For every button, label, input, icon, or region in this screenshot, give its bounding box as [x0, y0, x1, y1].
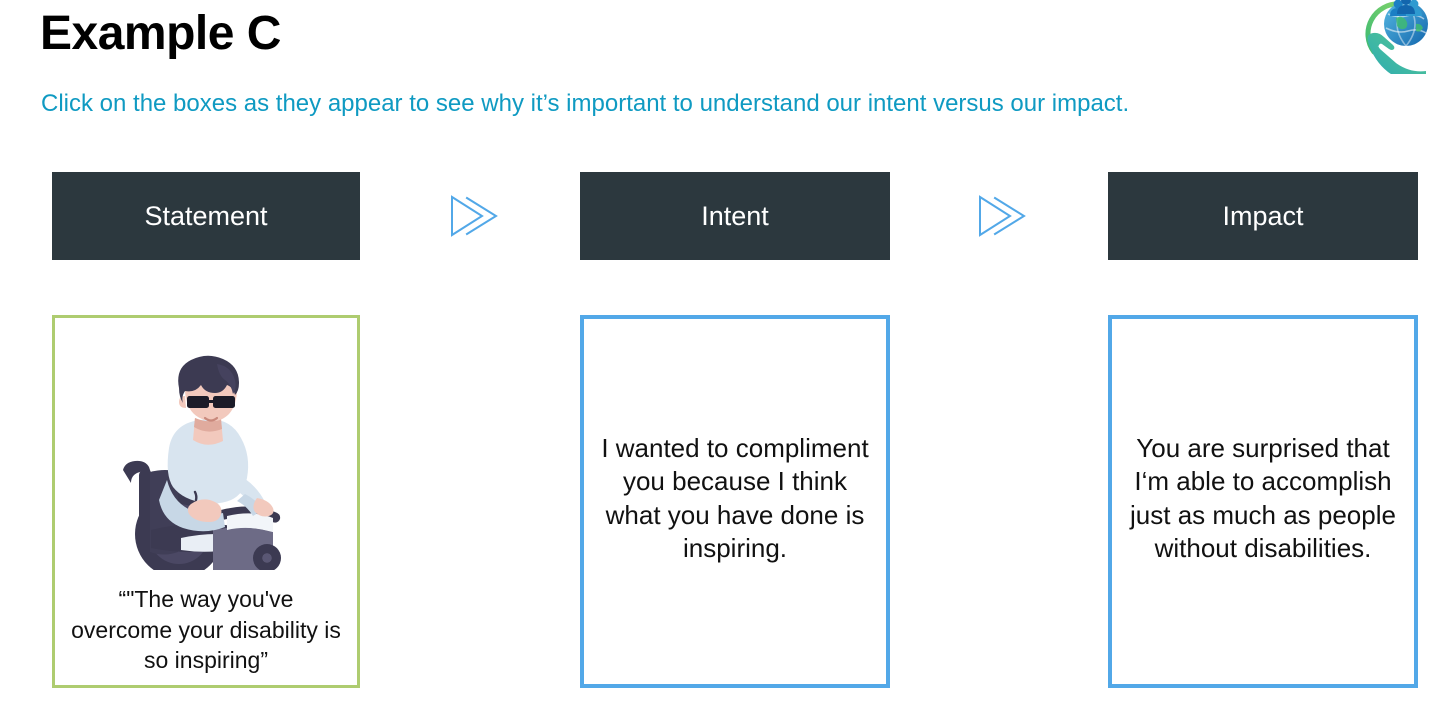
card-statement[interactable]: “"The way you've overcome your disabilit…	[52, 315, 360, 688]
stage-header-impact[interactable]: Impact	[1108, 172, 1418, 260]
intent-body-text: I wanted to compliment you because I thi…	[596, 432, 874, 565]
stage-header-intent-label: Intent	[701, 200, 769, 232]
slide-canvas: Example C Click on the boxes as they app…	[0, 0, 1434, 715]
wheelchair-user-illustration	[117, 352, 295, 570]
stage-header-impact-label: Impact	[1222, 200, 1303, 232]
stage-header-statement[interactable]: Statement	[52, 172, 360, 260]
statement-caption-text: “"The way you've overcome your disabilit…	[61, 584, 351, 676]
hand-cradling-globe-with-people-logo	[1354, 0, 1434, 74]
card-impact[interactable]: You are surprised that I‘m able to accom…	[1108, 315, 1418, 688]
stage-header-intent[interactable]: Intent	[580, 172, 890, 260]
organization-logo	[1354, 0, 1434, 74]
double-chevron-right-icon-2	[976, 192, 1028, 240]
page-subtitle-instruction: Click on the boxes as they appear to see…	[41, 88, 1129, 119]
double-chevron-right-icon-1	[448, 192, 500, 240]
impact-body-text: You are surprised that I‘m able to accom…	[1122, 432, 1404, 565]
page-title: Example C	[40, 6, 281, 61]
stage-header-statement-label: Statement	[144, 200, 267, 232]
card-intent[interactable]: I wanted to compliment you because I thi…	[580, 315, 890, 688]
